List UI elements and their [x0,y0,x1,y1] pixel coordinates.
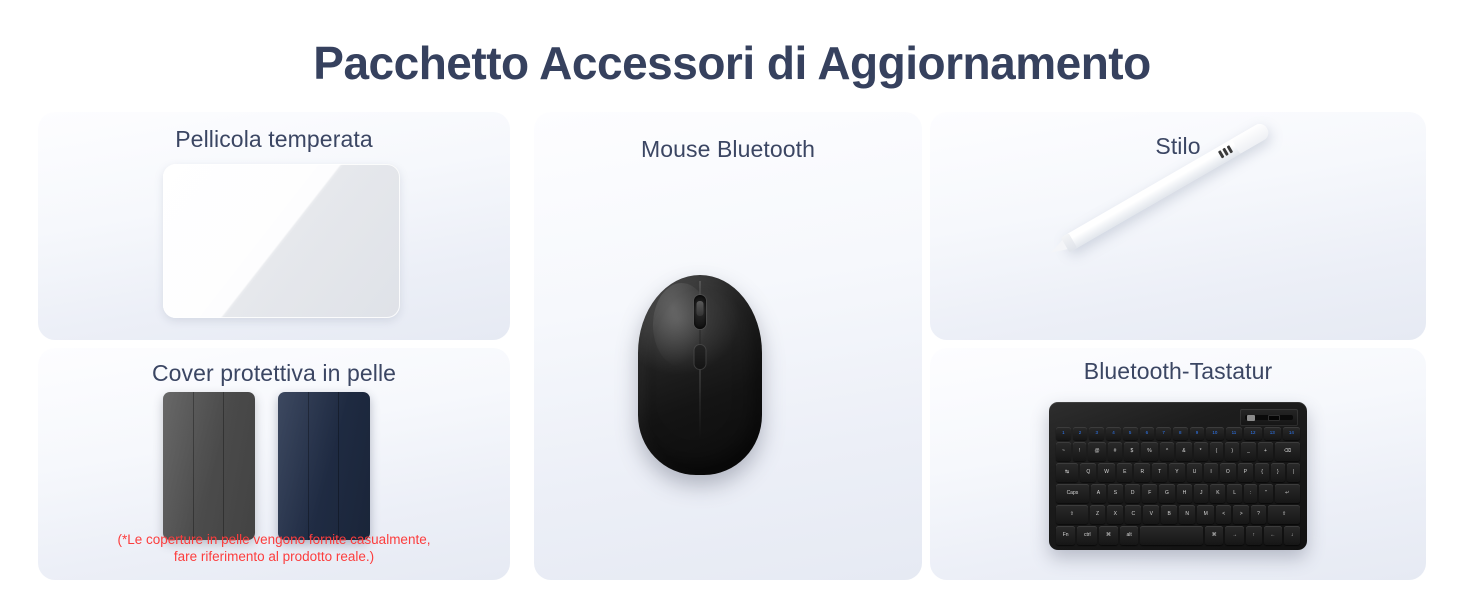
keyboard-key: L [1227,484,1242,503]
cover-fold-line [193,392,194,540]
card-label-tempered-glass: Pellicola temperata [38,126,510,153]
disclaimer-line-1: (*Le coperture in pelle vengono fornite … [38,532,510,549]
keyboard-key: H [1177,484,1192,503]
card-stylus: Stilo [930,112,1426,340]
keyboard-key: → [1225,526,1243,545]
keyboard-key: ⌫ [1275,442,1300,461]
keyboard-key: 13 [1264,427,1281,440]
keyboard-key: ⇧ [1268,505,1300,524]
bluetooth-mouse-icon [638,275,762,475]
keyboard-key: + [1258,442,1273,461]
keyboard-key: M [1197,505,1214,524]
keyboard-key: 4 [1106,427,1121,440]
keyboard-key: alt [1120,526,1139,545]
leather-cover-disclaimer: (*Le coperture in pelle vengono fornite … [38,532,510,566]
card-leather-cover: Cover protettiva in pelle (*Le coperture… [38,348,510,580]
keyboard-key: E [1117,463,1132,482]
keyboard-key: ⇧ [1056,505,1088,524]
keyboard-key: > [1233,505,1248,524]
keyboard-row-numbers: ~!@#$%^&*()_+⌫ [1056,442,1300,461]
keyboard-key: Z [1090,505,1106,524]
keyboard-key: B [1161,505,1177,524]
cover-fold-line [223,392,224,540]
keyboard-key: & [1176,442,1191,461]
keyboard-key: < [1216,505,1231,524]
card-label-bluetooth-keyboard: Bluetooth-Tastatur [930,358,1426,385]
bluetooth-keyboard-icon: 1234567891011121314 ~!@#$%^&*()_+⌫ ↹QWER… [1049,402,1307,550]
keyboard-key: ↓ [1284,526,1300,545]
card-bluetooth-keyboard: Bluetooth-Tastatur 1234567891011121314 ~… [930,348,1426,580]
keyboard-key: 14 [1283,427,1300,440]
keyboard-key: @ [1088,442,1105,461]
keyboard-key: N [1179,505,1195,524]
keyboard-key: 5 [1123,427,1138,440]
keyboard-key: ctrl [1077,526,1097,545]
mouse-center-line [700,370,701,438]
cover-fold-line [338,392,339,540]
cover-fold-line [308,392,309,540]
card-bluetooth-mouse: Mouse Bluetooth [534,112,922,580]
keyboard-key: A [1091,484,1106,503]
keyboard-row-home: CapsASDFGHJKL:"↵ [1056,484,1300,503]
keyboard-key: X [1107,505,1123,524]
keyboard-key: ↑ [1246,526,1262,545]
keyboard-key: 2 [1073,427,1088,440]
mouse-dpi-button [695,345,706,369]
keyboard-key: " [1259,484,1273,503]
keyboard-key: ~ [1056,442,1071,461]
keyboard-key: 8 [1173,427,1188,440]
tempered-glass-screen-protector-icon [163,164,400,318]
keyboard-key: ⌘ [1099,526,1117,545]
keyboard-row-bottom: ⇧ZXCVBNM<>?⇧ [1056,505,1300,524]
keyboard-charge-port [1268,415,1280,421]
card-tempered-glass: Pellicola temperata [38,112,510,340]
keyboard-key: 3 [1089,427,1104,440]
keyboard-key: _ [1241,442,1256,461]
keyboard-key: ! [1073,442,1086,461]
card-label-leather-cover: Cover protettiva in pelle [38,360,510,387]
mouse-scroll-wheel [694,295,706,329]
glass-sheen [163,164,400,318]
keyboard-key: 9 [1190,427,1205,440]
keyboard-key: Q [1080,463,1096,482]
keyboard-key: O [1220,463,1236,482]
keyboard-key: ? [1251,505,1266,524]
keyboard-key: K [1210,484,1225,503]
card-label-bluetooth-mouse: Mouse Bluetooth [534,136,922,163]
keyboard-key: 7 [1156,427,1171,440]
keyboard-key: F [1142,484,1157,503]
keyboard-key: V [1143,505,1159,524]
keyboard-key: } [1271,463,1285,482]
keyboard-row-function: 1234567891011121314 [1056,427,1300,440]
keyboard-key: 12 [1244,427,1261,440]
keyboard-key: U [1187,463,1203,482]
keyboard-key: { [1255,463,1269,482]
keyboard-key: C [1125,505,1141,524]
keyboard-key: 11 [1226,427,1243,440]
keyboard-top-bar [1056,408,1300,427]
keyboard-key: * [1194,442,1208,461]
keyboard-row-space: Fnctrl⌘alt⌘→↑←↓ [1056,526,1300,545]
leather-folio-cover-navy-icon [278,392,370,540]
keyboard-key: Y [1169,463,1184,482]
mouse-scroll-wheel-inner [697,301,704,316]
keyboard-key: | [1287,463,1300,482]
keyboard-key: D [1125,484,1140,503]
keyboard-key: P [1238,463,1253,482]
keyboard-key: ← [1264,526,1282,545]
keyboard-key: ^ [1160,442,1174,461]
keyboard-key: R [1134,463,1150,482]
keyboard-key: W [1098,463,1115,482]
keyboard-key: ⌘ [1205,526,1223,545]
keyboard-key: Caps [1056,484,1089,503]
keyboard-key: ( [1210,442,1224,461]
keyboard-power-switch [1240,409,1298,426]
leather-folio-cover-gray-icon [163,392,255,540]
keyboard-row-top: ↹QWERTYUIOP{}| [1056,463,1300,482]
cover-highlight [163,392,255,540]
disclaimer-line-2: fare riferimento al prodotto reale.) [38,549,510,566]
keyboard-key: # [1108,442,1123,461]
card-label-stylus: Stilo [930,133,1426,160]
keyboard-key: ↹ [1056,463,1078,482]
keyboard-key: J [1194,484,1208,503]
keyboard-key: 10 [1206,427,1223,440]
page-title: Pacchetto Accessori di Aggiornamento [0,38,1464,89]
keyboard-key: : [1244,484,1257,503]
keyboard-key: 1 [1056,427,1071,440]
keyboard-switch-knob [1247,415,1255,421]
keyboard-key: T [1152,463,1167,482]
keyboard-key: 6 [1140,427,1155,440]
keyboard-key: G [1159,484,1175,503]
keyboard-key: % [1141,442,1158,461]
keyboard-key: Fn [1056,526,1075,545]
cover-highlight [278,392,370,540]
keyboard-key: S [1108,484,1123,503]
stylus-container [1048,174,1308,324]
keyboard-key [1140,526,1203,545]
keyboard-key: I [1204,463,1217,482]
keyboard-key: ) [1225,442,1239,461]
keyboard-key: $ [1124,442,1139,461]
keyboard-key: ↵ [1275,484,1300,503]
